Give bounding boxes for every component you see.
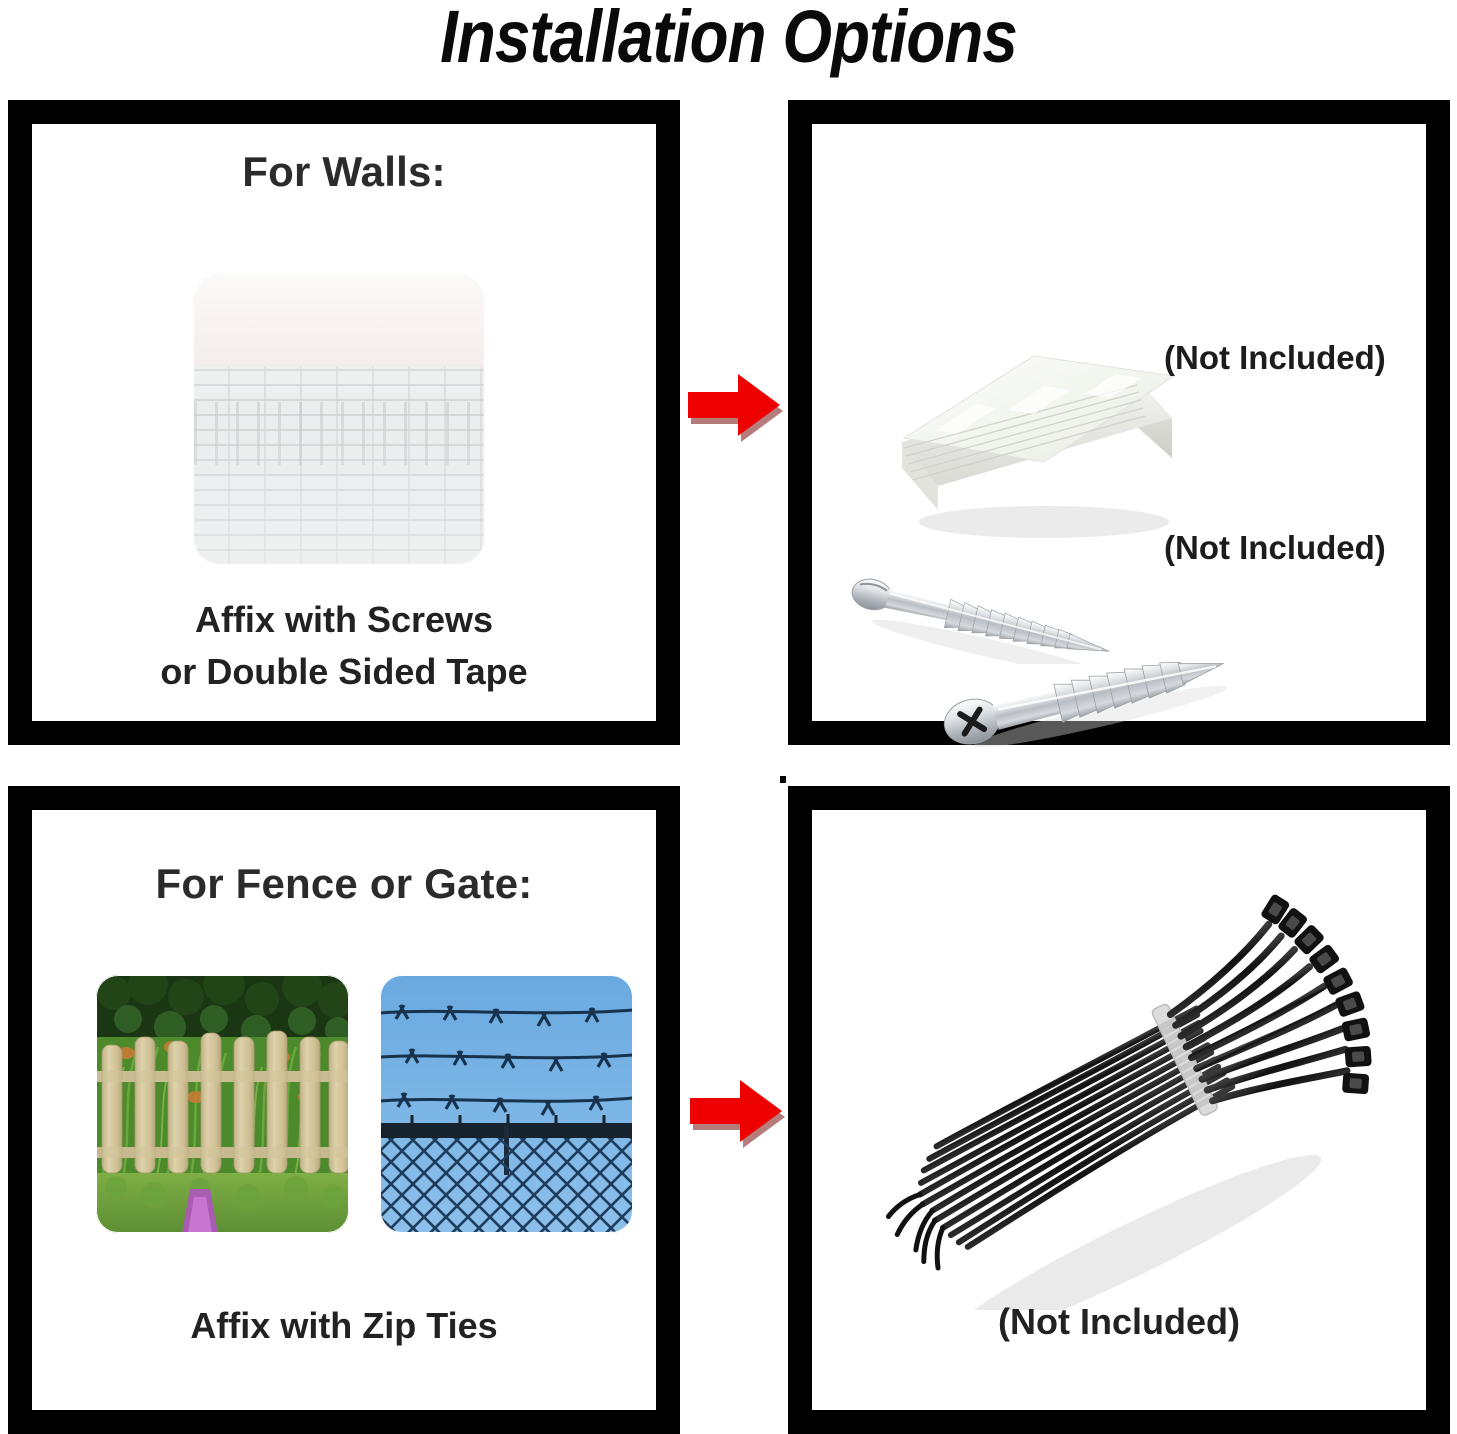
- page-title: Installation Options: [102, 0, 1355, 79]
- red-right-arrow-icon-top: [688, 374, 784, 446]
- panel-fence-hardware: (Not Included): [788, 786, 1450, 1434]
- phillips-wood-screw-image: [940, 644, 1250, 774]
- black-zip-tie-bundle-image: [832, 890, 1412, 1310]
- for-fence-or-gate-heading: For Fence or Gate:: [32, 860, 656, 908]
- image-artifact-speck: [780, 776, 786, 783]
- for-walls-heading: For Walls:: [32, 148, 656, 196]
- zip-ties-not-included-note: (Not Included): [812, 1296, 1426, 1347]
- screw-not-included-note: (Not Included): [1164, 529, 1386, 567]
- barbed-wire-chain-link-fence-photo: [380, 975, 633, 1233]
- walls-caption-line-2: or Double Sided Tape: [32, 646, 656, 697]
- panel-wall-hardware: (Not Included): [788, 100, 1450, 745]
- wooden-picket-fence-photo: [96, 975, 349, 1233]
- double-sided-tape-stack-image: [884, 334, 1194, 554]
- white-brick-wall-photo: [194, 274, 484, 564]
- panel-for-walls: For Walls: Affix with Screws or Double S…: [8, 100, 680, 745]
- walls-caption-line-1: Affix with Screws: [32, 594, 656, 645]
- red-right-arrow-icon-bottom: [690, 1080, 786, 1152]
- fence-caption-line-1: Affix with Zip Ties: [32, 1300, 656, 1351]
- panel-for-fence-or-gate: For Fence or Gate:: [8, 786, 680, 1434]
- tape-not-included-note: (Not Included): [1164, 339, 1386, 377]
